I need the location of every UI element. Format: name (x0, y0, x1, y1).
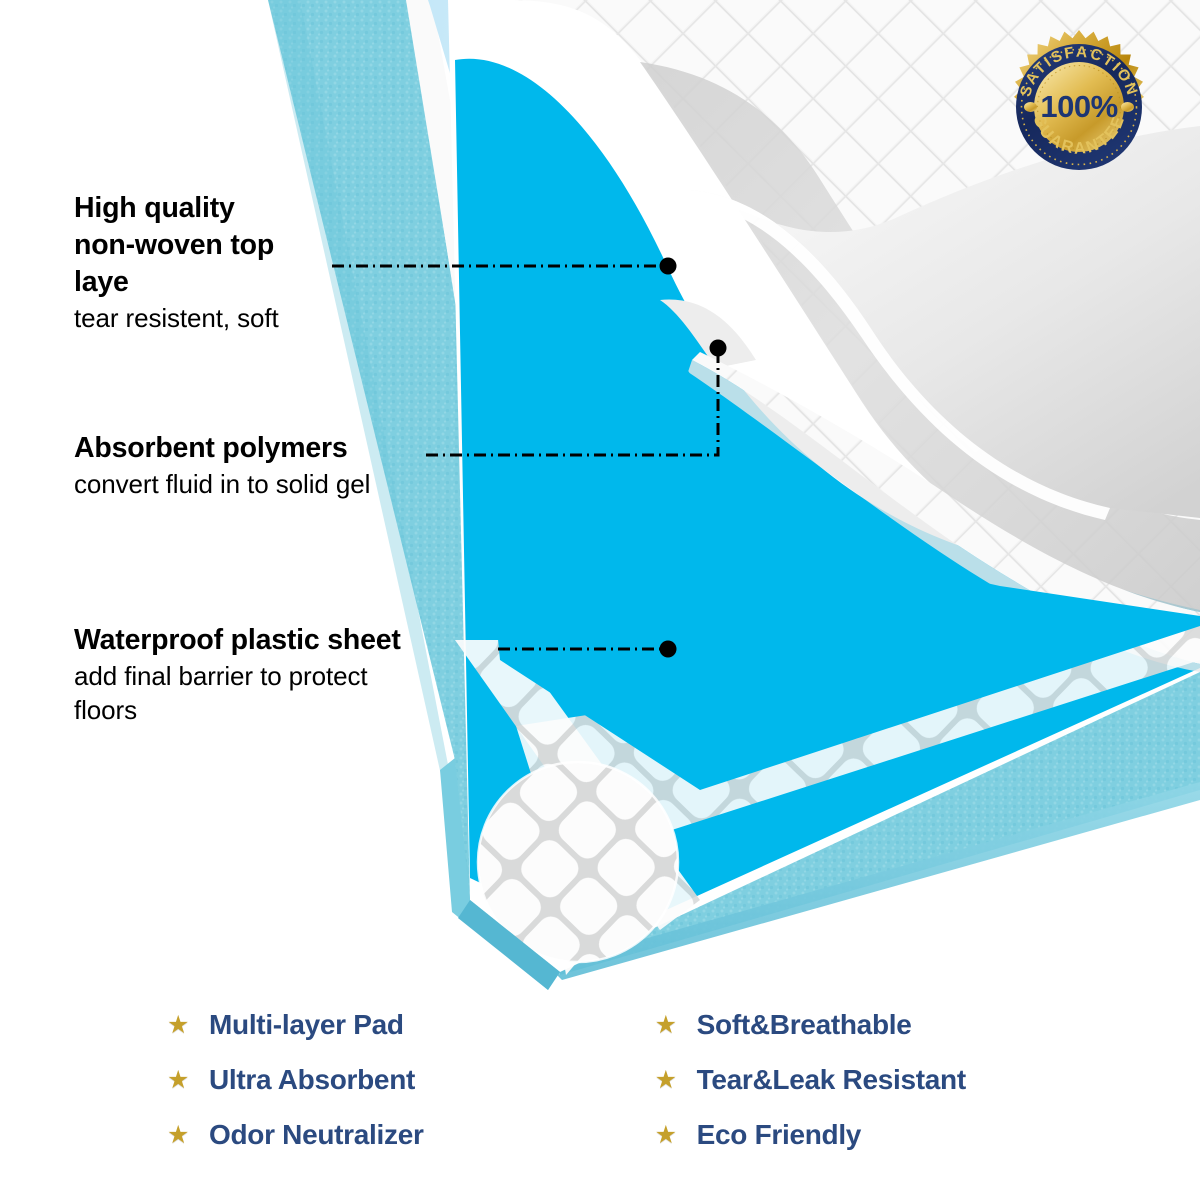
feature-column-right: ★ Soft&Breathable ★ Tear&Leak Resistant … (640, 995, 1200, 1200)
feature-label: Multi-layer Pad (197, 1009, 404, 1041)
infographic-canvas: High quality non-woven top laye tear res… (0, 0, 1200, 1200)
callout-title: Absorbent polymers (74, 430, 504, 467)
callout-subtitle: add final barrier to protect floors (74, 659, 514, 728)
callout-subtitle: convert fluid in to solid gel (74, 467, 504, 501)
feature-item-odor-neutralizer: ★ Odor Neutralizer (167, 1113, 640, 1157)
star-icon: ★ (655, 1068, 685, 1093)
feature-label: Tear&Leak Resistant (685, 1064, 966, 1096)
badge-rivet-left (1024, 102, 1037, 112)
feature-item-tear-leak-resistant: ★ Tear&Leak Resistant (655, 1058, 1200, 1102)
badge-rivet-right (1121, 102, 1134, 112)
feature-item-multi-layer-pad: ★ Multi-layer Pad (167, 1003, 640, 1047)
feature-label: Eco Friendly (685, 1119, 861, 1151)
star-icon: ★ (655, 1013, 685, 1038)
callout-title: Waterproof plastic sheet (74, 622, 514, 659)
star-icon: ★ (655, 1123, 685, 1148)
callout-non-woven-top-layer: High quality non-woven top laye tear res… (74, 190, 374, 335)
feature-list: ★ Multi-layer Pad ★ Ultra Absorbent ★ Od… (0, 995, 1200, 1200)
star-icon: ★ (167, 1068, 197, 1093)
callout-title: High quality non-woven top laye (74, 190, 374, 301)
callout-waterproof-plastic-sheet: Waterproof plastic sheet add final barri… (74, 622, 514, 728)
star-icon: ★ (167, 1013, 197, 1038)
satisfaction-guarantee-badge: SATISFACTION GUARANTEE 100% (1000, 28, 1158, 186)
feature-label: Soft&Breathable (685, 1009, 912, 1041)
feature-label: Ultra Absorbent (197, 1064, 415, 1096)
callout-absorbent-polymers: Absorbent polymers convert fluid in to s… (74, 430, 504, 501)
callout-subtitle: tear resistent, soft (74, 301, 374, 335)
feature-item-soft-breathable: ★ Soft&Breathable (655, 1003, 1200, 1047)
star-icon: ★ (167, 1123, 197, 1148)
badge-center-text: 100% (1040, 89, 1117, 124)
feature-column-left: ★ Multi-layer Pad ★ Ultra Absorbent ★ Od… (0, 995, 640, 1200)
feature-label: Odor Neutralizer (197, 1119, 424, 1151)
feature-item-eco-friendly: ★ Eco Friendly (655, 1113, 1200, 1157)
feature-item-ultra-absorbent: ★ Ultra Absorbent (167, 1058, 640, 1102)
